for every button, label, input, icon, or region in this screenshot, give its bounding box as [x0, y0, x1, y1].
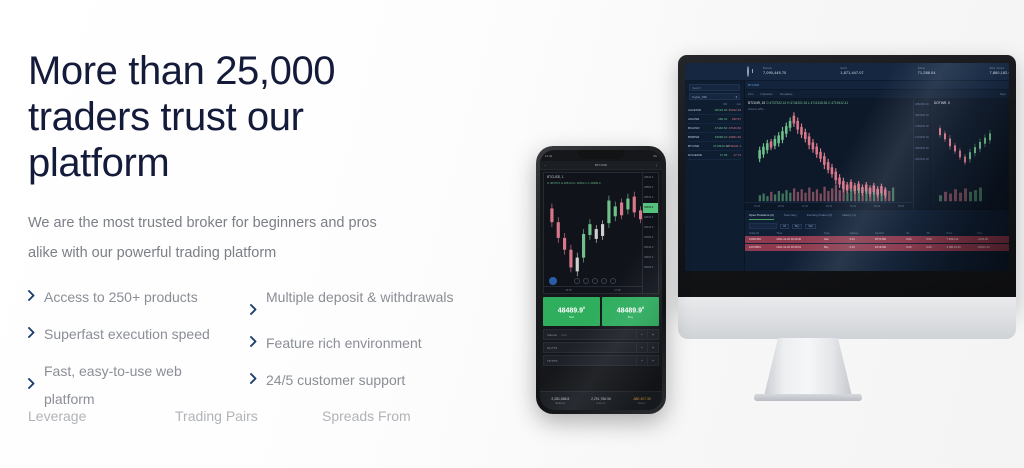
time-tick: 15:00	[754, 205, 760, 208]
cell-time: 2021-11-02 18:26:51	[776, 246, 824, 249]
price-tick: 48460.0	[643, 213, 658, 223]
tool-icon-1[interactable]	[574, 278, 580, 284]
desktop-monitor-mockup: Bitcoin 7,090,445.70 Gold 1,871,447.07 S…	[678, 55, 1016, 310]
phone-notch	[578, 150, 624, 159]
time-tick: 17:00	[614, 289, 621, 292]
monitor-screen: Bitcoin 7,090,445.70 Gold 1,871,447.07 S…	[685, 63, 1009, 271]
margin-cell: -880 407.35 Margin	[621, 397, 662, 406]
feature-item[interactable]: Multiple deposit & withdrawals	[250, 283, 488, 320]
chevron-right-icon	[28, 284, 44, 306]
phone-nav-title: BTCUSD	[595, 163, 607, 167]
hero-copy: More than 25,000 traders trust our platf…	[28, 48, 508, 268]
watchlist-bid: 182.31	[714, 117, 728, 121]
toolbar-indicators[interactable]: Indicators	[760, 92, 772, 96]
filter-sell[interactable]: Sell	[805, 224, 815, 229]
watchlist-bid: 17.38	[714, 153, 728, 157]
time-axis: 15:00 18:00 21:00 00:00 03:00 06:00 09:0…	[745, 202, 913, 209]
feature-list: Access to 250+ products Superfast execut…	[28, 283, 488, 422]
tool-icon-3[interactable]	[592, 278, 598, 284]
chevron-right-icon	[28, 321, 44, 343]
price-tick: 4810000.00	[914, 110, 930, 121]
decrement-icon[interactable]: −	[636, 343, 647, 352]
watchlist-select[interactable]: Crypto_INR ▾	[689, 93, 740, 100]
balance-cell: 2,281,566.5 Balance	[540, 397, 581, 406]
time-tick: 03:00	[850, 205, 856, 208]
monitor-chin	[678, 297, 1016, 339]
current-price-tick: 48489.9	[643, 203, 658, 213]
dotinr-candlestick-chart	[931, 99, 1009, 209]
phone-price-axis: 48620.0 48580.0 48540.0 48489.9 48460.0 …	[642, 173, 658, 293]
phone-candlestick-chart	[544, 173, 658, 293]
phone-chart[interactable]: BTCUSD, 1 O 48478.5 H 48510.0 L 48452.1 …	[543, 172, 659, 294]
column-header: P&L	[978, 232, 1005, 235]
watchlist-search-input[interactable]: Search	[689, 84, 740, 91]
watchlist-symbol: ADAINR	[688, 117, 714, 121]
watchlist-sidebar: Search Crypto_INR ▾ Bid Ask AAVEINR	[685, 81, 745, 271]
cell-volume: 0.01	[850, 238, 876, 241]
tab-pending-orders[interactable]: Pending Orders (0)	[807, 213, 833, 220]
chart-legend: DOTINR, 5	[934, 101, 950, 105]
increment-icon[interactable]: +	[647, 343, 658, 352]
tool-icon-2[interactable]	[583, 278, 589, 284]
tool-icon-5[interactable]	[610, 278, 616, 284]
btcinr-chart-pane[interactable]: BTCINR, 15 O 4737332.41 H 4744201.34 L 4…	[745, 99, 931, 209]
watchlist-bid: 36191.30	[714, 108, 728, 112]
sell-label: Sell	[569, 315, 574, 320]
chart-tool-buttons	[574, 278, 616, 284]
column-header	[688, 103, 714, 106]
margin-label: Margin	[621, 402, 662, 406]
monitor-stand-neck	[764, 338, 852, 396]
decrement-icon[interactable]: −	[636, 356, 647, 365]
back-arrow-icon[interactable]: ←	[544, 163, 547, 167]
chevron-right-icon	[250, 367, 266, 389]
price-tick: 4610000.00	[914, 154, 930, 165]
price-tick: 48540.0	[643, 193, 658, 203]
take-profit-field[interactable]: TP PTS − +	[543, 355, 659, 366]
positions-filter-bar: All Buy Sell	[745, 220, 1009, 229]
tool-icon-4[interactable]	[601, 278, 607, 284]
buy-label: Buy	[628, 315, 633, 320]
watchlist-row[interactable]: BTCINR 4714910.38 4741021.1	[688, 142, 741, 151]
table-row[interactable]: 10073801 2021-11-02 18:26:51 Buy 0.10 ET…	[745, 244, 1009, 251]
ticker-item: Dow Jones 7,860,182.02	[990, 67, 1009, 76]
ticker-item: Bitcoin 7,090,445.70	[763, 67, 786, 76]
ticker-item: Gold 1,871,447.07	[840, 67, 863, 76]
price-tick: 48300.0	[643, 253, 658, 263]
increment-icon[interactable]: +	[647, 330, 658, 339]
filter-all[interactable]: All	[780, 224, 789, 229]
time-tick: 15:30	[565, 289, 572, 292]
phone-chart-symbol: BTCUSD, 1	[547, 175, 564, 179]
positions-tabs: Open Positions (2) Summary Pending Order…	[745, 210, 1009, 220]
account-summary-bar: 2,281,566.5 Balance 2,291,786.56 Free M.…	[540, 391, 662, 410]
cell-volume: 0.10	[850, 246, 876, 249]
cell-pnl: -2046.80	[978, 238, 1005, 241]
chart-panes: BTCINR, 15 O 4737332.41 H 4744201.34 L 4…	[745, 99, 1009, 209]
monitor-stand-base	[754, 394, 862, 401]
phone-chart-ohlc: O 48478.5 H 48510.0 L 48452.1 C 48489.9	[547, 181, 601, 185]
watchlist-row[interactable]: ADAINR 182.31 182.57	[688, 115, 741, 124]
chevron-right-icon	[28, 372, 44, 394]
field-label: SL PTS	[547, 346, 557, 350]
monitor-ticker-bar: Bitcoin 7,090,445.70 Gold 1,871,447.07 S…	[685, 63, 1009, 81]
positions-search-input[interactable]	[749, 223, 777, 229]
chevron-right-icon	[250, 330, 266, 352]
ticker-value: 71,286.04	[918, 71, 936, 76]
chart-tab-btcinr[interactable]: BTCINR	[748, 83, 759, 87]
watchlist-symbol: BTCINR	[688, 144, 713, 148]
table-row[interactable]: 10061381 2021-11-02 18:29:40 Sell 0.01 B…	[745, 236, 1009, 243]
cell-price: 4 186.14.06	[946, 246, 977, 249]
phone-frame: 11:42 4G ← BTCUSD ⋮ BTCUSD, 1 O 48478.5 …	[536, 146, 666, 414]
ticker-value: 7,860,182.02	[990, 71, 1009, 76]
feature-item[interactable]: Superfast execution speed	[28, 320, 250, 348]
feature-item[interactable]: 24/5 customer support	[250, 366, 488, 394]
watchlist-symbol: DOGEINR	[688, 153, 714, 157]
watchlist-select-value: Crypto_INR	[692, 94, 707, 99]
cell-type: Sell	[824, 238, 850, 241]
field-label: Volume	[547, 333, 557, 337]
watchlist-bid: 47446.60	[714, 126, 728, 130]
increment-icon[interactable]: +	[647, 356, 658, 365]
watchlist-ask: 4741021.1	[727, 144, 741, 148]
time-tick: 06:00	[874, 205, 880, 208]
watchlist-bid: 4714910.38	[713, 144, 727, 148]
cell-symbol: ETHUSD	[875, 246, 906, 249]
watchlist-ask: 182.57	[727, 117, 741, 121]
price-tick: 48620.0	[643, 173, 658, 183]
column-header: SL	[906, 232, 926, 235]
cell-tp: 0.00	[926, 246, 946, 249]
cell-order-id: 10073801	[749, 246, 776, 249]
column-header: Bid	[714, 103, 728, 106]
globe-icon[interactable]	[549, 277, 557, 285]
watchlist-symbol: BCHINR	[688, 126, 714, 130]
status-time: 11:42	[545, 154, 552, 158]
filter-buy[interactable]: Buy	[792, 224, 802, 229]
watchlist-row[interactable]: BCHINR 47446.60 47446.60	[688, 124, 741, 133]
price-tick: 48580.0	[643, 183, 658, 193]
watchlist-ask: 17.74	[727, 153, 741, 157]
btcinr-candlestick-chart	[745, 99, 930, 209]
page-title: More than 25,000 traders trust our platf…	[28, 48, 368, 186]
price-tick: 48340.0	[643, 243, 658, 253]
watchlist-ask: 43901.30	[727, 135, 741, 139]
positions-panel: Open Positions (2) Summary Pending Order…	[745, 209, 1009, 271]
price-tick: 4860000.00	[914, 99, 930, 110]
watchlist-header: Bid Ask	[688, 103, 741, 106]
feature-label: Access to 250+ products	[44, 283, 198, 311]
overflow-menu-icon[interactable]: ⋮	[655, 163, 658, 167]
watchlist-row[interactable]: AAVEINR 36191.30 36342.30	[688, 106, 741, 115]
watchlist-row[interactable]: DOGEINR 17.38 17.74	[688, 151, 741, 160]
feature-column-left: Access to 250+ products Superfast execut…	[28, 283, 250, 422]
tab-open-positions[interactable]: Open Positions (2)	[749, 213, 774, 220]
ticker-item: Silver 71,286.04	[918, 67, 936, 76]
time-tick: 18:00	[778, 205, 784, 208]
hero-subtitle: We are the most trusted broker for begin…	[28, 208, 398, 268]
column-header: Time	[776, 232, 824, 235]
column-header: Price	[946, 232, 977, 235]
phone-top-nav: ← BTCUSD ⋮	[540, 161, 662, 170]
price-tick: 4760000.00	[914, 121, 930, 132]
stat-label-leverage: Leverage	[28, 408, 175, 424]
chart-legend: BTCINR, 15 O 4737332.41 H 4744201.34 L 4…	[748, 101, 848, 105]
tab-history[interactable]: History (1)	[842, 213, 856, 220]
toolbar-timeframe[interactable]: 12m	[748, 92, 753, 96]
volume-indicator-label: Volume (20) ~	[748, 107, 766, 111]
positions-table-header: Order ID Time Type Volume Symbol SL TP P…	[745, 229, 1009, 235]
order-fields: Volume 0.01 − + SL PTS − + TP PTS	[543, 329, 659, 366]
price-axis: 4860000.00 4810000.00 4760000.00 4710000…	[913, 99, 930, 209]
feature-label: 24/5 customer support	[266, 366, 405, 394]
watchlist-symbol: BNBINR	[688, 135, 714, 139]
feature-item[interactable]: Feature rich environment	[250, 329, 488, 357]
price-tick: 4710000.00	[914, 132, 930, 143]
time-tick: 09:00	[898, 205, 904, 208]
status-signal: 4G	[653, 154, 657, 158]
device-mockup-scene: Bitcoin 7,090,445.70 Gold 1,871,447.07 S…	[510, 0, 1024, 468]
phone-time-axis: 15:30 17:00	[544, 286, 642, 293]
column-header: Symbol	[875, 232, 906, 235]
cell-type: Buy	[824, 246, 850, 249]
chart-tab-bar: BTCINR	[745, 81, 1009, 90]
chart-toolbar: 12m Indicators Templates Save	[745, 90, 1009, 99]
stat-label-trading-pairs: Trading Pairs	[175, 408, 322, 424]
column-header: Type	[824, 232, 850, 235]
sell-price: 48489.90	[558, 303, 586, 315]
trade-buttons: 48489.90 Sell 48489.90 Buy	[543, 297, 659, 326]
hero-section: More than 25,000 traders trust our platf…	[0, 0, 1024, 468]
sell-button[interactable]: 48489.90 Sell	[543, 297, 600, 326]
balance-label: Balance	[540, 402, 581, 406]
column-header: Volume	[850, 232, 876, 235]
ticker-value: 1,871,447.07	[840, 71, 863, 76]
chevron-right-icon	[250, 298, 266, 320]
free-margin-cell: 2,291,786.56 Free M.	[581, 397, 622, 406]
stop-loss-field[interactable]: SL PTS − +	[543, 342, 659, 353]
buy-price: 48489.90	[617, 303, 645, 315]
cell-pnl: -86410.20	[978, 246, 1005, 249]
mobile-phone-mockup: 11:42 4G ← BTCUSD ⋮ BTCUSD, 1 O 48478.5 …	[536, 146, 666, 414]
watchlist-symbol: AAVEINR	[688, 108, 714, 112]
time-tick: 21:00	[802, 205, 808, 208]
cell-symbol: BTCUSD	[875, 238, 906, 241]
time-tick: 00:00	[826, 205, 832, 208]
feature-label: Superfast execution speed	[44, 320, 210, 348]
brand-logo-icon	[747, 66, 749, 77]
buy-button[interactable]: 48489.90 Buy	[602, 297, 659, 326]
phone-screen: 11:42 4G ← BTCUSD ⋮ BTCUSD, 1 O 48478.5 …	[540, 150, 662, 410]
feature-item[interactable]: Fast, easy-to-use web platform	[28, 357, 250, 413]
feature-label: Multiple deposit & withdrawals	[266, 283, 454, 311]
toolbar-templates[interactable]: Templates	[780, 92, 793, 96]
field-label: TP PTS	[547, 359, 557, 363]
volume-field[interactable]: Volume 0.01 − +	[543, 329, 659, 340]
toolbar-save[interactable]: Save	[1000, 92, 1006, 96]
cell-order-id: 10061381	[749, 238, 776, 241]
watchlist-row[interactable]: BNBINR 43695.10 43901.30	[688, 133, 741, 142]
field-value: 0.01	[557, 333, 636, 337]
watchlist-bid: 43695.10	[714, 135, 728, 139]
price-tick: 48420.0	[643, 223, 658, 233]
column-header: TP	[926, 232, 946, 235]
monitor-main-area: BTCINR 12m Indicators Templates Save	[745, 81, 1009, 271]
decrement-icon[interactable]: −	[636, 330, 647, 339]
feature-column-right: Multiple deposit & withdrawals Feature r…	[250, 283, 488, 422]
cell-sl: 0.00	[906, 246, 926, 249]
ticker-value: 7,090,445.70	[763, 71, 786, 76]
chart-ohlc-values: O 4737332.41 H 4744201.34 L 4711318.36 C…	[766, 101, 848, 105]
price-tick: 48260.0	[643, 263, 658, 273]
watchlist-ask: 47446.60	[727, 126, 741, 130]
stat-label-spreads-from: Spreads From	[322, 408, 472, 424]
price-tick: 48380.0	[643, 233, 658, 243]
column-header: Ask	[727, 103, 741, 106]
chevron-down-icon: ▾	[736, 94, 737, 99]
stats-row: Leverage Trading Pairs Spreads From	[28, 408, 478, 424]
price-tick: 4660000.00	[914, 143, 930, 154]
dotinr-chart-pane[interactable]: DOTINR, 5	[931, 99, 1009, 209]
chart-symbol-label: DOTINR, 5	[934, 101, 950, 105]
feature-item[interactable]: Access to 250+ products	[28, 283, 250, 311]
free-margin-label: Free M.	[581, 402, 622, 406]
cell-price: 7 9024.42	[946, 238, 977, 241]
cell-time: 2021-11-02 18:29:40	[776, 238, 824, 241]
column-header: Order ID	[749, 232, 776, 235]
chart-symbol-label: BTCINR, 15	[748, 101, 765, 105]
tab-summary[interactable]: Summary	[784, 213, 797, 220]
cell-sl: 0.00	[906, 238, 926, 241]
monitor-bezel: Bitcoin 7,090,445.70 Gold 1,871,447.07 S…	[678, 55, 1016, 310]
feature-label: Feature rich environment	[266, 329, 422, 357]
feature-label: Fast, easy-to-use web platform	[44, 357, 229, 413]
watchlist-ask: 36342.30	[727, 108, 741, 112]
cell-tp: 0.00	[926, 238, 946, 241]
